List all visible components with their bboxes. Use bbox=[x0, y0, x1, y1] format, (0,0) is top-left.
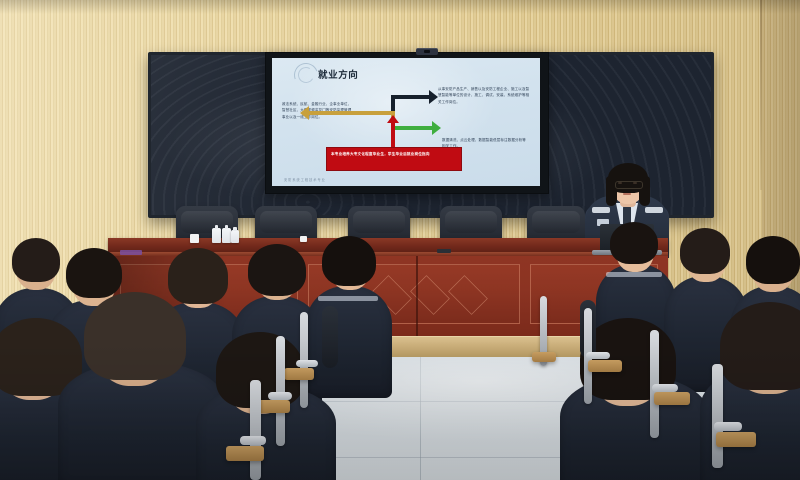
water-bottle[interactable] bbox=[212, 228, 221, 243]
paper-cup[interactable] bbox=[300, 236, 307, 242]
desk-seam bbox=[416, 256, 418, 342]
desk-microphone[interactable] bbox=[437, 249, 451, 253]
slide-red-callout-text: 本专业培养大专文化程度毕业生，学生毕业后就业岗位指向 bbox=[327, 148, 461, 157]
slide-title: 就业方向 bbox=[318, 67, 358, 81]
arrow-black-horizontal bbox=[391, 95, 432, 99]
podium-chair[interactable] bbox=[255, 206, 317, 242]
arrow-green-head-icon bbox=[432, 121, 441, 135]
arrow-black-head-icon bbox=[429, 90, 438, 104]
arrow-red-trunk bbox=[391, 121, 395, 149]
presentation-slide[interactable]: 就业方向 政法系统、民航、金融行业、企事业单位、智慧社区、大型视频监控门等安防监… bbox=[272, 58, 540, 186]
slide-text-right-top: 从事安防产品生产、销售以及安防工程企业、施工以及智慧智能等单位的设计、施工、调试… bbox=[438, 86, 530, 105]
paper-cup[interactable] bbox=[190, 234, 199, 243]
desk-diamond-motif bbox=[448, 275, 488, 315]
speaker-eye-right bbox=[633, 182, 637, 184]
speaker-mouth bbox=[623, 193, 631, 195]
classroom-lecture-scene: 就业方向 政法系统、民航、金融行业、企事业单位、智慧社区、大型视频监控门等安防监… bbox=[0, 0, 800, 480]
speaker-epaulette-left bbox=[592, 207, 610, 213]
door-seam bbox=[760, 0, 762, 190]
arrow-gold-horizontal bbox=[308, 111, 395, 115]
speaker-epaulette-right bbox=[645, 207, 663, 213]
podium-chair[interactable] bbox=[440, 206, 502, 242]
slide-footer-text: 安防系统工程技术专业 bbox=[284, 177, 326, 182]
top-shadow bbox=[0, 0, 800, 14]
arrow-red-head-icon bbox=[387, 115, 399, 123]
slide-red-callout-box: 本专业培养大专文化程度毕业生，学生毕业后就业岗位指向 bbox=[326, 147, 462, 171]
water-bottle[interactable] bbox=[222, 228, 231, 243]
arrow-gold-head-icon bbox=[300, 106, 309, 120]
podium-chair[interactable] bbox=[527, 206, 585, 242]
camera-module-icon bbox=[416, 48, 438, 55]
speaker-eye-left bbox=[618, 182, 622, 184]
water-bottle[interactable] bbox=[231, 230, 239, 243]
arrow-green-horizontal bbox=[391, 126, 435, 130]
purple-folder[interactable] bbox=[120, 250, 142, 255]
